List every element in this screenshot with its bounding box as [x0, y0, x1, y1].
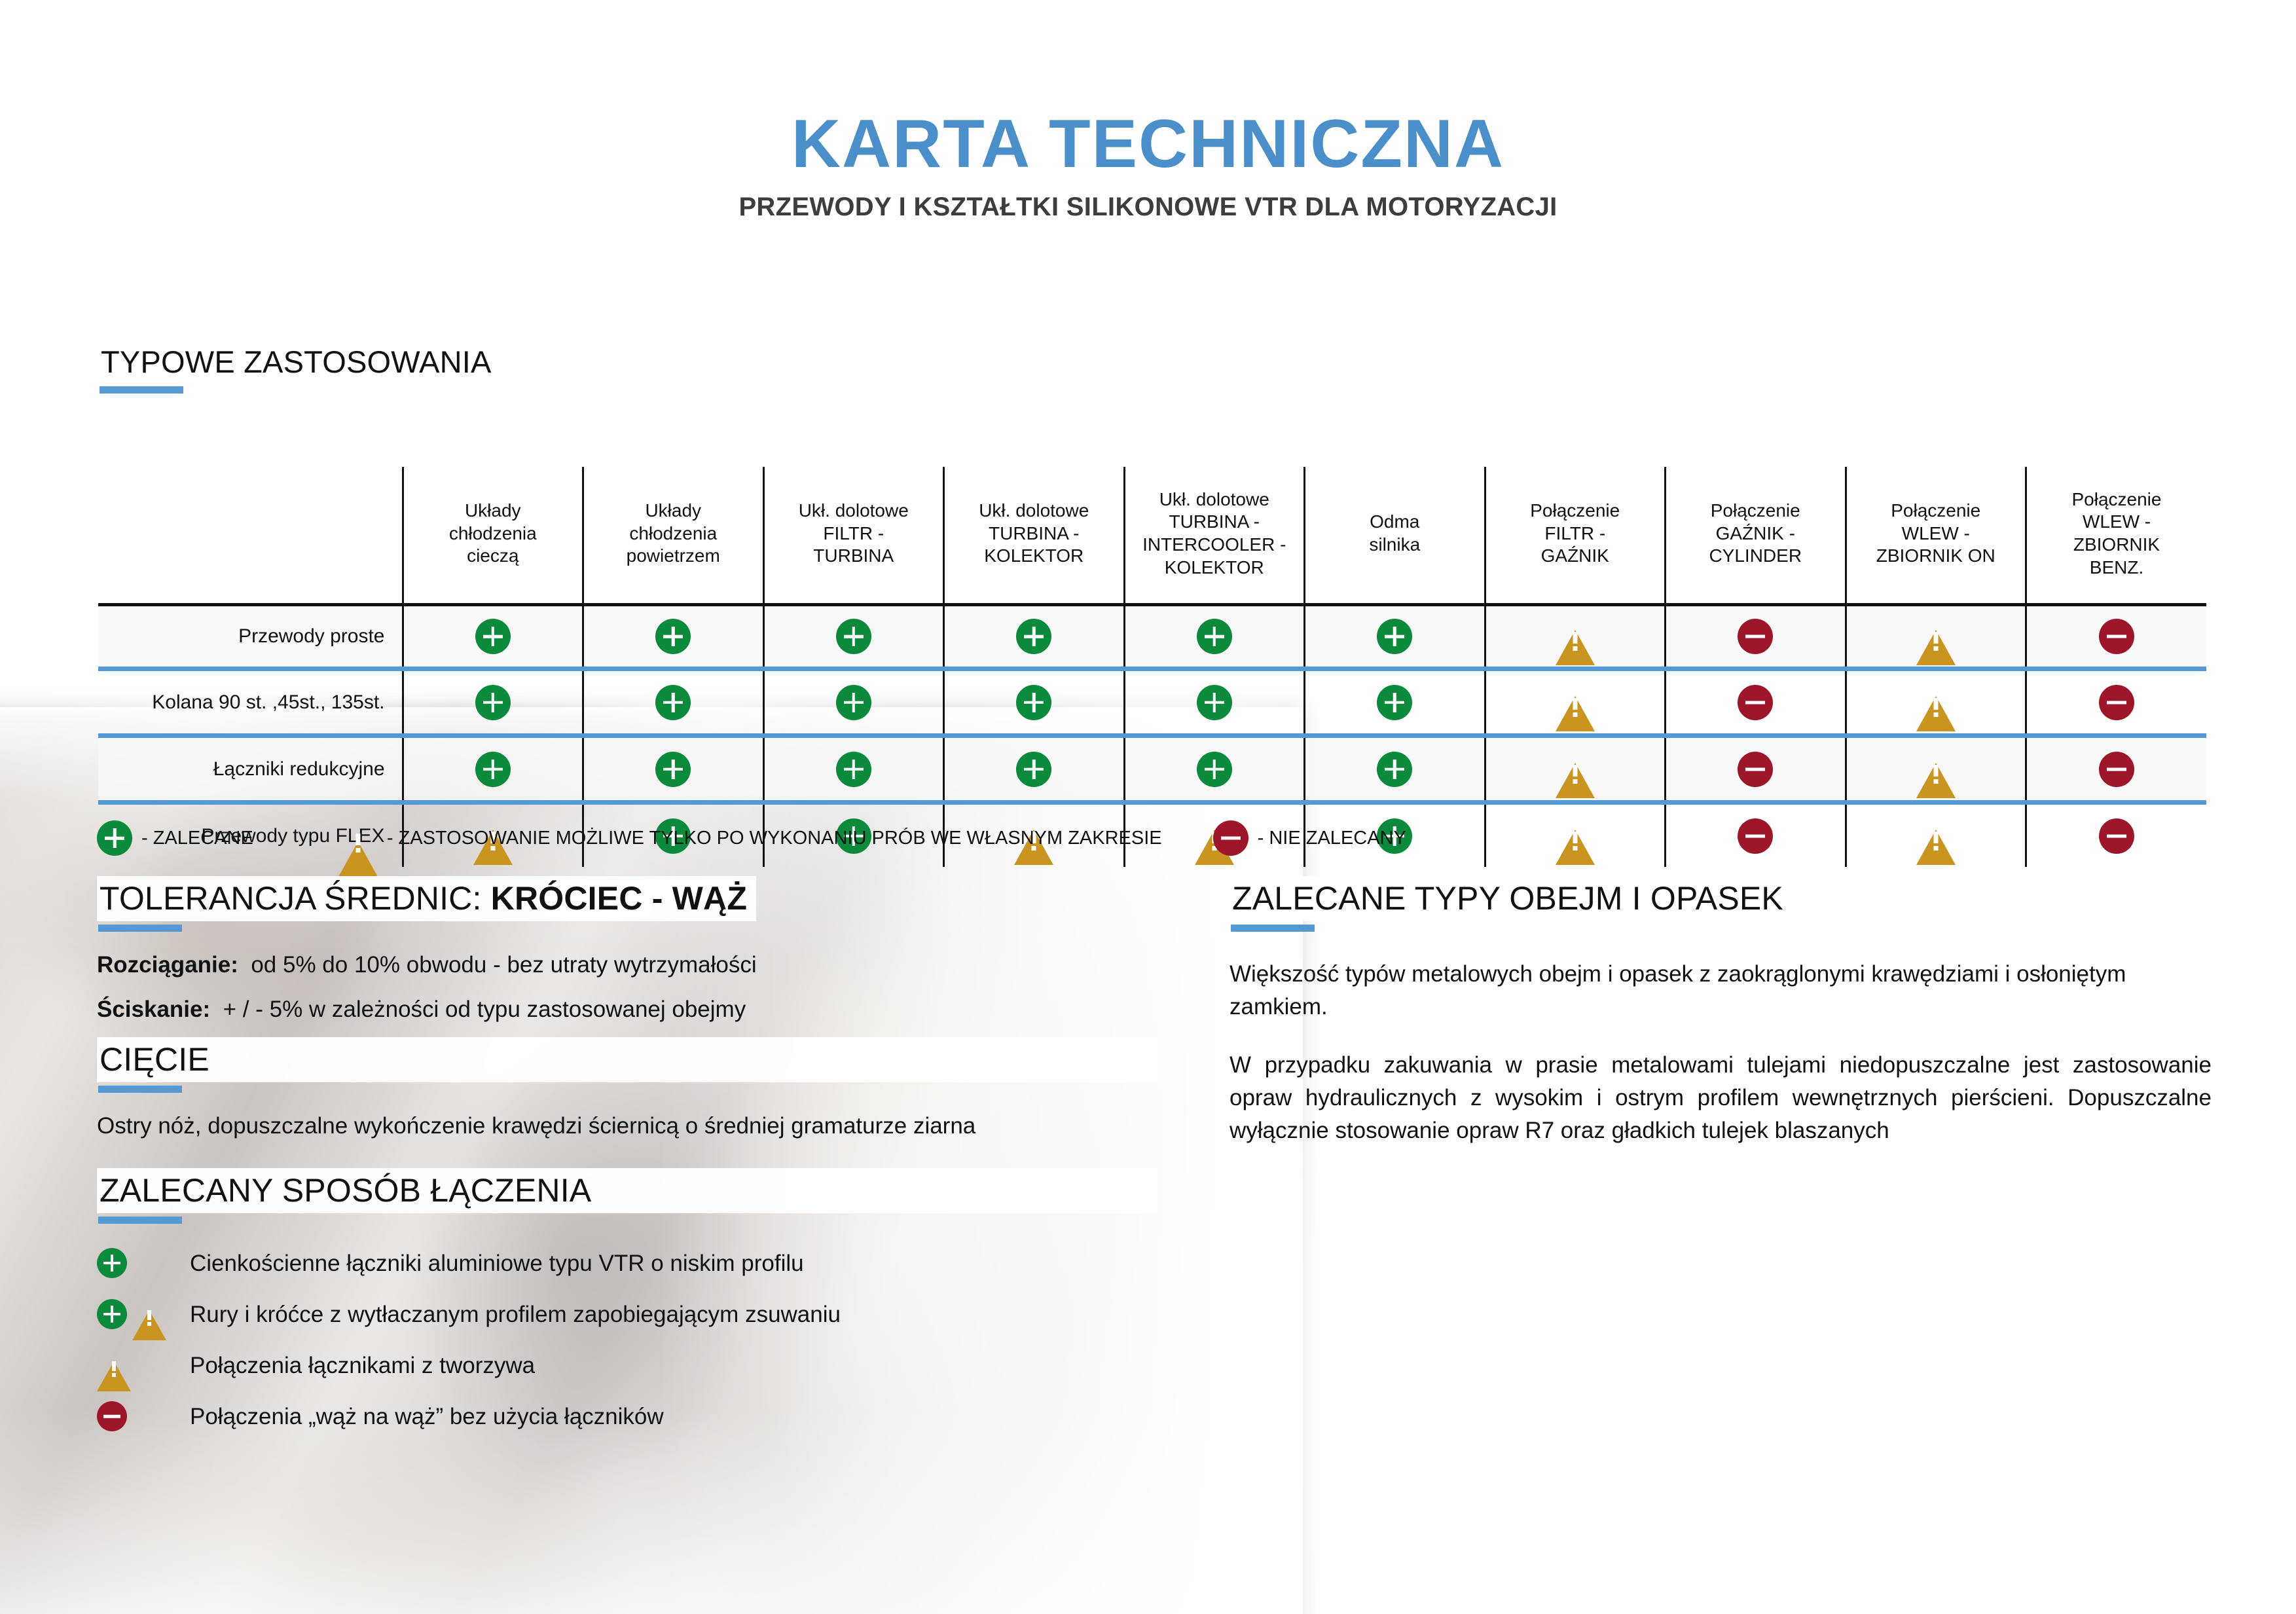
- matrix-cell-r0-c6: [1485, 604, 1666, 667]
- minus-icon: [1738, 685, 1773, 720]
- heading-accent-rule: [98, 1217, 182, 1224]
- row-label-2: Łączniki redukcyjne: [98, 738, 403, 800]
- right-column: ZALECANE TYPY OBEJM I OPASEK Większość t…: [1230, 876, 2212, 1146]
- plus-icon: [97, 820, 132, 856]
- title-block: KARTA TECHNICZNA PRZEWODY I KSZTAŁTKI SI…: [0, 0, 2296, 222]
- list-item: Połączenia łącznikami z tworzywa: [97, 1348, 1157, 1382]
- clamps-paragraph-1: Większość typów metalowych obejm i opase…: [1230, 958, 2212, 1023]
- heading-accent-rule: [98, 1086, 182, 1093]
- plus-icon: [836, 752, 871, 787]
- joining-section: ZALECANY SPOSÓB ŁĄCZENIA Cienkościenne ł…: [97, 1168, 1157, 1433]
- plus-icon: [836, 685, 871, 720]
- matrix-cell-r1-c9: [2026, 671, 2207, 733]
- warning-icon: [97, 1350, 131, 1380]
- matrix-cell-r2-c5: [1305, 738, 1485, 800]
- applications-heading: TYPOWE ZASTOSOWANIA: [98, 340, 2206, 394]
- minus-icon: [97, 1401, 127, 1431]
- minus-icon: [1738, 752, 1773, 787]
- matrix-cell-r2-c7: [1666, 738, 1846, 800]
- minus-icon: [2099, 752, 2134, 787]
- matrix-cell-r0-c2: [763, 604, 944, 667]
- joining-heading: ZALECANY SPOSÓB ŁĄCZENIA: [97, 1168, 1157, 1224]
- row-label-1: Kolana 90 st. ,45st., 135st.: [98, 671, 403, 733]
- warning-icon: [1916, 752, 1956, 787]
- tolerance-value-0: od 5% do 10% obwodu - bez utraty wytrzym…: [251, 952, 756, 978]
- plus-icon: [1197, 685, 1232, 720]
- cutting-heading-text: CIĘCIE: [97, 1037, 1157, 1082]
- tolerance-lines: Rozciąganie: od 5% do 10% obwodu - bez u…: [97, 949, 1157, 1025]
- list-item-label-3: Połączenia „wąż na wąż” bez użycia łączn…: [190, 1402, 664, 1432]
- matrix-cell-r0-c1: [583, 604, 764, 667]
- warning-icon: [1556, 619, 1595, 654]
- tolerance-heading-bold: KRÓCIEC - WĄŻ: [491, 880, 747, 917]
- matrix-cell-r3-c9: [2026, 805, 2207, 867]
- matrix-cell-r0-c9: [2026, 604, 2207, 667]
- warning-icon: [1916, 685, 1956, 720]
- matrix-cell-r1-c1: [583, 671, 764, 733]
- tolerance-line-0: Rozciąganie: od 5% do 10% obwodu - bez u…: [97, 949, 1157, 981]
- matrix-cell-r1-c7: [1666, 671, 1846, 733]
- legend-recommended-label: - ZALECANE: [141, 828, 253, 849]
- plus-icon: [1197, 619, 1232, 654]
- heading-accent-rule: [1231, 925, 1315, 932]
- list-item: Cienkościenne łączniki aluminiowe typu V…: [97, 1246, 1157, 1280]
- applications-heading-text: TYPOWE ZASTOSOWANIA: [98, 340, 501, 383]
- cutting-section: CIĘCIE Ostry nóż, dopuszczalne wykończen…: [97, 1037, 1157, 1142]
- column-header-7: Połączenie GAŹNIK - CYLINDER: [1666, 467, 1846, 604]
- column-header-4: Ukł. dolotowe TURBINA - INTERCOOLER - KO…: [1124, 467, 1305, 604]
- legend-item-recommended: - ZALECANE: [97, 820, 253, 856]
- joining-list: Cienkościenne łączniki aluminiowe typu V…: [97, 1246, 1157, 1433]
- plus-icon: [655, 685, 691, 720]
- list-item: Połączenia „wąż na wąż” bez użycia łączn…: [97, 1399, 1157, 1433]
- matrix-cell-r0-c5: [1305, 604, 1485, 667]
- warning-icon: [1556, 752, 1595, 787]
- warning-icon: [1916, 619, 1956, 654]
- list-item-icons-1: [97, 1299, 190, 1329]
- plus-icon: [97, 1248, 127, 1278]
- list-item-icons-0: [97, 1248, 190, 1278]
- tolerance-heading: TOLERANCJA ŚREDNIC: KRÓCIEC - WĄŻ: [97, 876, 1157, 932]
- cutting-heading: CIĘCIE: [97, 1037, 1157, 1093]
- datasheet-page: KARTA TECHNICZNA PRZEWODY I KSZTAŁTKI SI…: [0, 0, 2296, 1614]
- list-item-icons-2: [97, 1350, 190, 1380]
- plus-icon: [1377, 619, 1412, 654]
- matrix-cell-r2-c3: [944, 738, 1125, 800]
- applications-section: TYPOWE ZASTOSOWANIA Układy chłodzenia: [98, 340, 2206, 867]
- plus-icon: [836, 619, 871, 654]
- plus-icon: [1016, 619, 1051, 654]
- clamps-paragraph-2: W przypadku zakuwania w prasie metalowam…: [1230, 1049, 2212, 1146]
- table-row: Przewody proste: [98, 604, 2206, 667]
- tolerance-value-1: + / - 5% w zależności od typu zastosowan…: [223, 997, 746, 1022]
- plus-icon: [475, 619, 511, 654]
- applications-matrix: Układy chłodzenia cieczą Układy chłodzen…: [98, 467, 2206, 867]
- heading-accent-rule: [98, 925, 182, 932]
- matrix-corner-cell: [98, 467, 403, 604]
- plus-icon: [1016, 685, 1051, 720]
- row-label-0: Przewody proste: [98, 604, 403, 667]
- legend-conditional-label: - ZASTOSOWANIE MOŻLIWE TYLKO PO WYKONANI…: [387, 828, 1162, 849]
- matrix-cell-r0-c3: [944, 604, 1125, 667]
- warning-icon: [1556, 818, 1595, 854]
- matrix-cell-r2-c8: [1846, 738, 2026, 800]
- minus-icon: [2099, 685, 2134, 720]
- legend: - ZALECANE - ZASTOSOWANIE MOŻLIWE TYLKO …: [97, 820, 1406, 856]
- minus-icon: [1738, 619, 1773, 654]
- row-divider: [98, 733, 2206, 738]
- list-item-label-2: Połączenia łącznikami z tworzywa: [190, 1351, 535, 1381]
- joining-heading-text: ZALECANY SPOSÓB ŁĄCZENIA: [97, 1168, 1157, 1213]
- matrix-cell-r0-c8: [1846, 604, 2026, 667]
- matrix-cell-r0-c4: [1124, 604, 1305, 667]
- plus-icon: [97, 1299, 127, 1329]
- tolerance-line-1: Ściskanie: + / - 5% w zależności od typu…: [97, 993, 1157, 1026]
- minus-icon: [2099, 619, 2134, 654]
- column-header-2: Ukł. dolotowe FILTR - TURBINA: [763, 467, 944, 604]
- matrix-cell-r3-c7: [1666, 805, 1846, 867]
- legend-not-recommended-label: - NIE ZALECANY: [1258, 828, 1406, 849]
- matrix-header-row: Układy chłodzenia cieczą Układy chłodzen…: [98, 467, 2206, 604]
- column-header-9: Połączenie WLEW - ZBIORNIK BENZ.: [2026, 467, 2207, 604]
- column-header-6: Połączenie FILTR - GAŹNIK: [1485, 467, 1666, 604]
- page-title: KARTA TECHNICZNA: [0, 110, 2296, 178]
- list-item-label-1: Rury i króćce z wytłaczanym profilem zap…: [190, 1300, 841, 1330]
- matrix-cell-r1-c4: [1124, 671, 1305, 733]
- plus-icon: [1197, 752, 1232, 787]
- matrix-cell-r2-c4: [1124, 738, 1305, 800]
- matrix-cell-r0-c7: [1666, 604, 1846, 667]
- plus-icon: [655, 619, 691, 654]
- column-header-1: Układy chłodzenia powietrzem: [583, 467, 764, 604]
- row-divider: [98, 667, 2206, 671]
- heading-accent-rule: [100, 386, 183, 394]
- plus-icon: [1016, 752, 1051, 787]
- warning-icon: [338, 820, 378, 856]
- warning-icon: [1556, 685, 1595, 720]
- legend-item-not-recommended: - NIE ZALECANY: [1213, 820, 1406, 856]
- tolerance-section: TOLERANCJA ŚREDNIC: KRÓCIEC - WĄŻ Rozcią…: [97, 876, 1157, 1025]
- row-divider: [98, 800, 2206, 805]
- clamps-heading-text: ZALECANE TYPY OBEJM I OPASEK: [1230, 876, 1793, 921]
- column-header-5: Odma silnika: [1305, 467, 1485, 604]
- matrix-cell-r2-c0: [403, 738, 583, 800]
- matrix-cell-r1-c2: [763, 671, 944, 733]
- table-row: Kolana 90 st. ,45st., 135st.: [98, 671, 2206, 733]
- tolerance-label-1: Ściskanie:: [97, 997, 210, 1022]
- matrix-cell-r3-c8: [1846, 805, 2026, 867]
- plus-icon: [1377, 752, 1412, 787]
- warning-icon: [1916, 818, 1956, 854]
- left-column: TOLERANCJA ŚREDNIC: KRÓCIEC - WĄŻ Rozcią…: [97, 876, 1157, 1450]
- page-subtitle: PRZEWODY I KSZTAŁTKI SILIKONOWE VTR DLA …: [0, 193, 2296, 222]
- matrix-cell-r1-c0: [403, 671, 583, 733]
- column-header-3: Ukł. dolotowe TURBINA - KOLEKTOR: [944, 467, 1125, 604]
- matrix-cell-r1-c8: [1846, 671, 2026, 733]
- minus-icon: [2099, 818, 2134, 854]
- legend-item-conditional: - ZASTOSOWANIE MOŻLIWE TYLKO PO WYKONANI…: [338, 820, 1162, 856]
- list-item-label-0: Cienkościenne łączniki aluminiowe typu V…: [190, 1249, 804, 1279]
- matrix-cell-r1-c6: [1485, 671, 1666, 733]
- list-item: Rury i króćce z wytłaczanym profilem zap…: [97, 1297, 1157, 1331]
- matrix-cell-r1-c5: [1305, 671, 1485, 733]
- minus-icon: [1738, 818, 1773, 854]
- matrix-cell-r2-c6: [1485, 738, 1666, 800]
- table-row: Łączniki redukcyjne: [98, 738, 2206, 800]
- plus-icon: [475, 685, 511, 720]
- tolerance-heading-text: TOLERANCJA ŚREDNIC: KRÓCIEC - WĄŻ: [97, 876, 756, 921]
- matrix-cell-r3-c6: [1485, 805, 1666, 867]
- matrix-cell-r2-c1: [583, 738, 764, 800]
- minus-icon: [1213, 820, 1248, 856]
- plus-icon: [475, 752, 511, 787]
- clamps-heading: ZALECANE TYPY OBEJM I OPASEK: [1230, 876, 2212, 932]
- matrix-cell-r0-c0: [403, 604, 583, 667]
- tolerance-heading-normal: TOLERANCJA ŚREDNIC:: [100, 880, 491, 917]
- warning-icon: [132, 1299, 166, 1329]
- list-item-icons-3: [97, 1401, 190, 1431]
- plus-icon: [655, 752, 691, 787]
- plus-icon: [1377, 685, 1412, 720]
- matrix-cell-r2-c2: [763, 738, 944, 800]
- column-header-8: Połączenie WLEW - ZBIORNIK ON: [1846, 467, 2026, 604]
- matrix-cell-r2-c9: [2026, 738, 2207, 800]
- matrix-cell-r1-c3: [944, 671, 1125, 733]
- cutting-text: Ostry nóż, dopuszczalne wykończenie kraw…: [97, 1110, 1105, 1142]
- tolerance-label-0: Rozciąganie:: [97, 952, 238, 978]
- column-header-0: Układy chłodzenia cieczą: [403, 467, 583, 604]
